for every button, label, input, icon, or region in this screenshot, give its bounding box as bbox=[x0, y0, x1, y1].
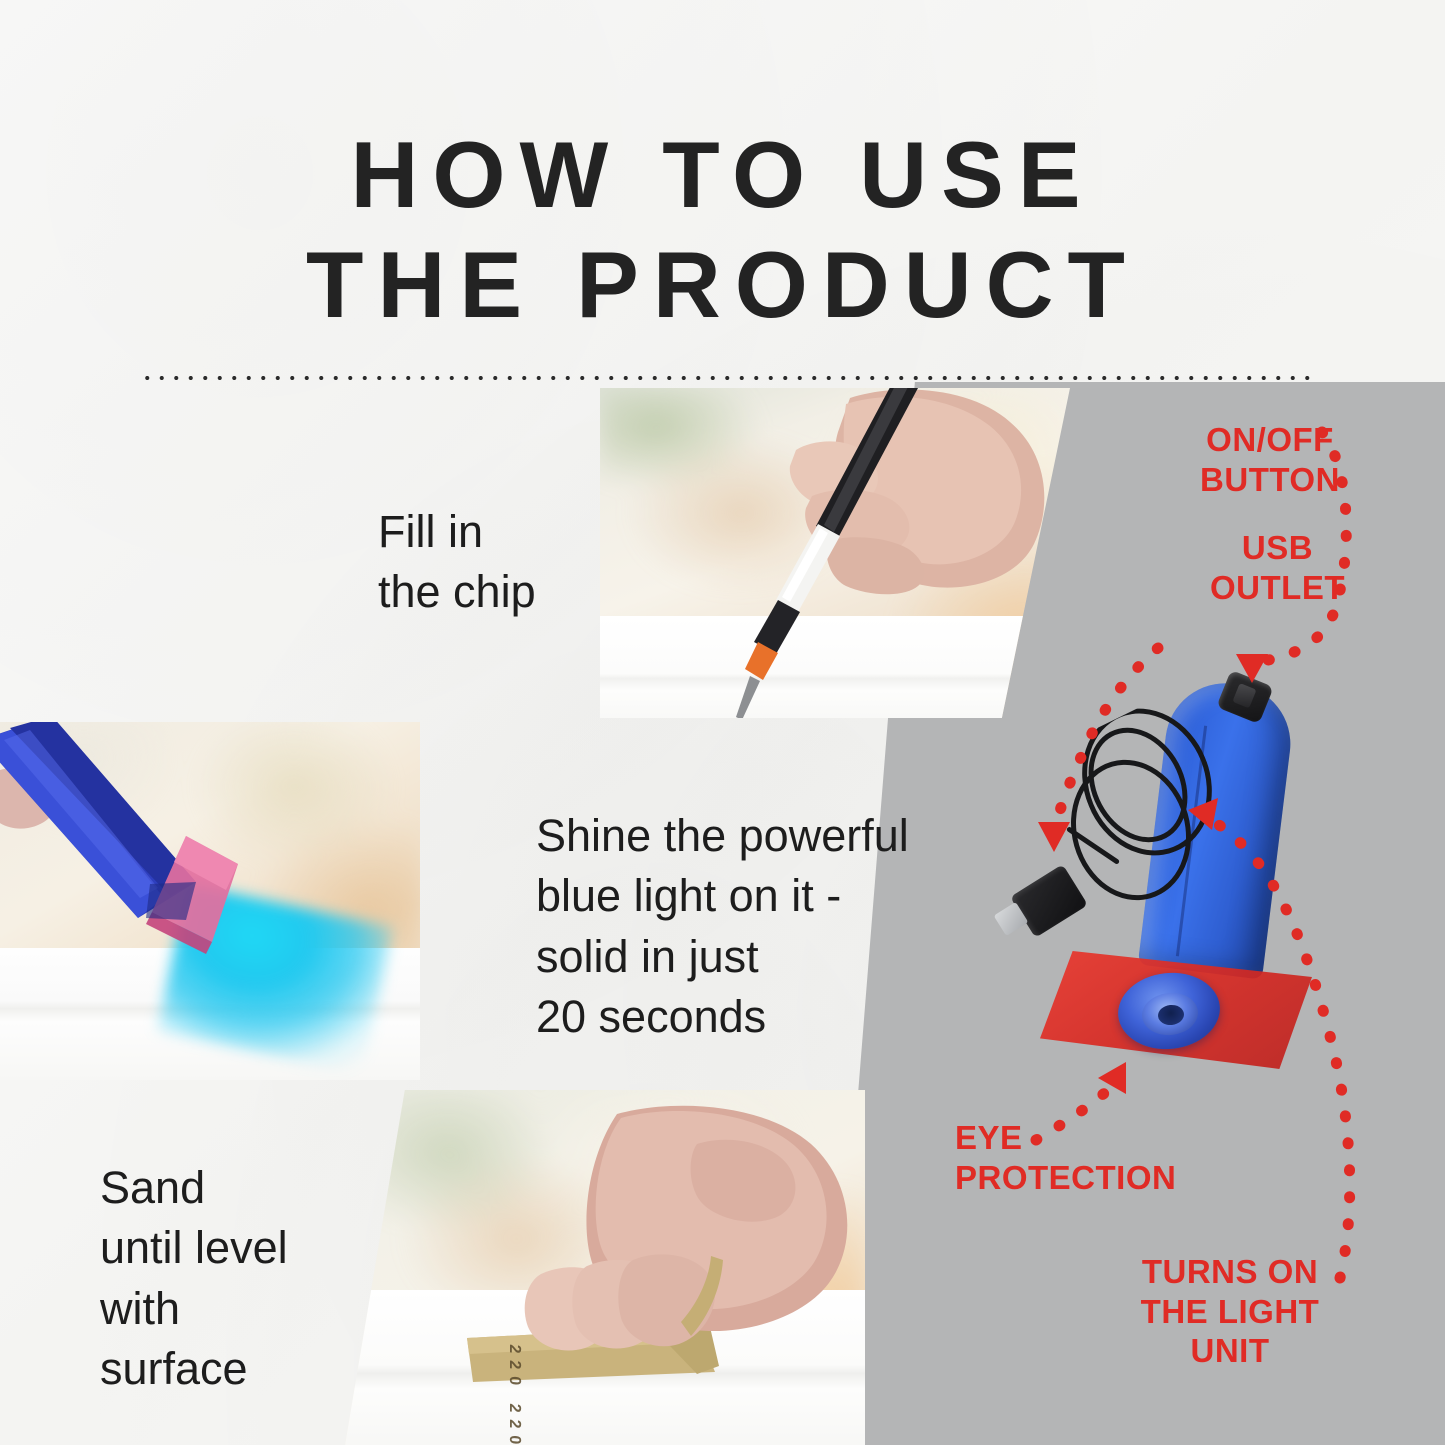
sandpaper-grit-label: 220 220 bbox=[505, 1344, 523, 1445]
uv-light-unit bbox=[1000, 655, 1350, 1115]
photo-hand-sanding: 220 220 bbox=[345, 1090, 865, 1445]
usb-plug bbox=[1010, 864, 1088, 938]
step-2-text: Shine the powerful blue light on it - so… bbox=[536, 806, 909, 1047]
callout-turns-line-1: TURNS ON bbox=[1110, 1252, 1350, 1292]
callout-usb-line-2: OUTLET bbox=[1170, 568, 1385, 608]
infographic-canvas: HOW TO USE THE PRODUCT bbox=[0, 0, 1445, 1445]
step-3-line-1: Sand bbox=[100, 1158, 288, 1218]
callout-on-off-button: ON/OFF BUTTON bbox=[1155, 420, 1385, 499]
callout-usb-line-1: USB bbox=[1170, 528, 1385, 568]
step-1-line-2: the chip bbox=[378, 562, 536, 622]
step-2-line-1: Shine the powerful bbox=[536, 806, 909, 866]
hand-and-sandpaper-illustration bbox=[345, 1090, 865, 1445]
callout-turns-on-light-unit: TURNS ON THE LIGHT UNIT bbox=[1110, 1252, 1350, 1371]
callout-usb-outlet: USB OUTLET bbox=[1170, 528, 1385, 607]
callout-eye-line-1: EYE bbox=[955, 1118, 1215, 1158]
photo-uv-light-on-surface bbox=[0, 722, 420, 1080]
uv-wand-illustration bbox=[0, 722, 420, 1080]
dotted-divider bbox=[140, 374, 1312, 382]
callout-on-off-line-2: BUTTON bbox=[1155, 460, 1385, 500]
callout-turns-line-3: UNIT bbox=[1110, 1331, 1350, 1371]
callout-eye-protection: EYE PROTECTION bbox=[955, 1118, 1215, 1197]
callout-on-off-line-1: ON/OFF bbox=[1155, 420, 1385, 460]
step-3-text: Sand until level with surface bbox=[100, 1158, 288, 1399]
step-1-line-1: Fill in bbox=[378, 502, 536, 562]
step-3-line-2: until level bbox=[100, 1218, 288, 1278]
step-3-line-4: surface bbox=[100, 1339, 288, 1399]
title-line-2: THE PRODUCT bbox=[0, 230, 1445, 340]
step-2-line-3: solid in just bbox=[536, 927, 909, 987]
step-1-text: Fill in the chip bbox=[378, 502, 536, 623]
title-line-1: HOW TO USE bbox=[0, 120, 1445, 230]
step-2-line-4: 20 seconds bbox=[536, 987, 909, 1047]
callout-eye-line-2: PROTECTION bbox=[955, 1158, 1215, 1198]
callout-turns-line-2: THE LIGHT bbox=[1110, 1292, 1350, 1332]
step-2-line-2: blue light on it - bbox=[536, 866, 909, 926]
step-3-line-3: with bbox=[100, 1279, 288, 1339]
page-title: HOW TO USE THE PRODUCT bbox=[0, 120, 1445, 340]
